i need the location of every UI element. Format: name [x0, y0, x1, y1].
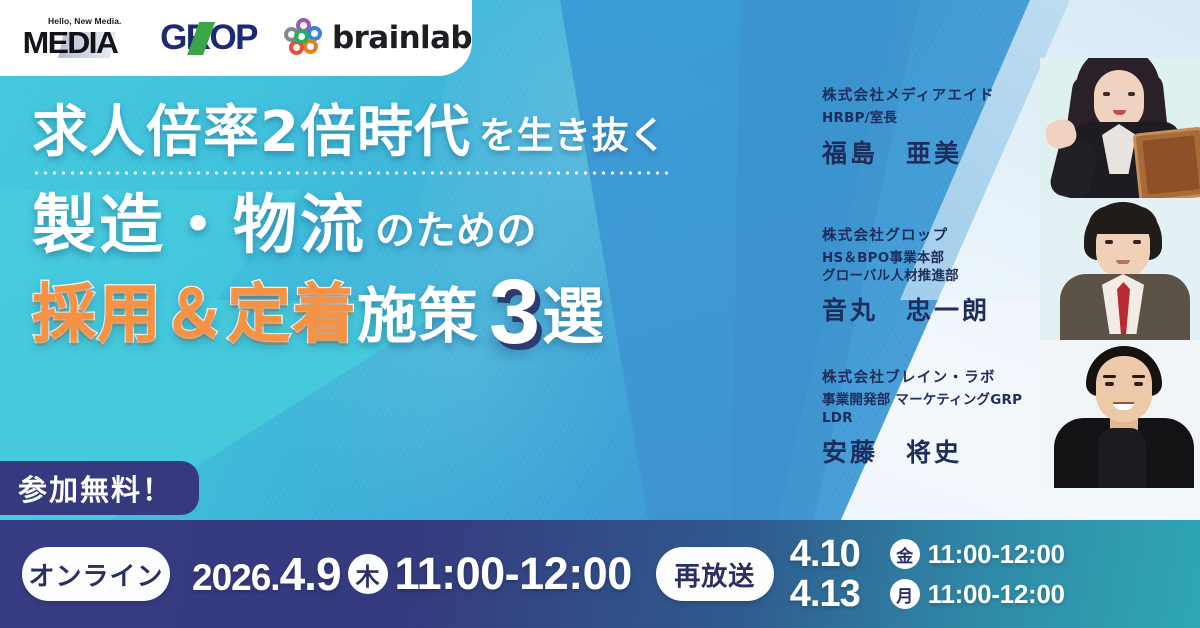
main-date-dow: 木 — [348, 554, 388, 594]
main-date-month-day: 4.9 — [280, 548, 341, 600]
online-badge: オンライン — [22, 547, 170, 601]
speaker-list: 株式会社メディアエイド HRBP/室長 福島 亜美 株式会社グロップ HS＆B — [800, 0, 1200, 520]
main-date-year: 2026. — [192, 557, 280, 598]
speaker-card-2: 株式会社グロップ HS＆BPO事業本部 グローバル人材推進部 音丸 忠一朗 — [800, 198, 1200, 348]
eyebrow-right — [1132, 375, 1145, 378]
headline: 求人倍率2倍時代 を生き抜く 製造・物流 のための 採用＆定着 施策 3 選 — [32, 104, 792, 350]
headline-line3-orange: 採用＆定着 — [32, 282, 357, 350]
logo-media: Hello, New Media. MEDIA — [24, 16, 134, 60]
main-event-date: 2026.4.9 木 11:00-12:00 — [192, 547, 632, 601]
speaker-3-department-line2: LDR — [822, 410, 1042, 427]
headline-line2-rest: のための — [375, 198, 537, 261]
logo-brainlab: brainlab — [283, 18, 472, 58]
eye-left — [1103, 92, 1110, 96]
headline-line2-emphasis: 製造・物流 — [32, 193, 367, 261]
eye-right — [1133, 240, 1141, 244]
headline-dotted-rule — [32, 171, 672, 175]
headline-line-2: 製造・物流 のための — [32, 193, 792, 261]
hair-fringe — [1088, 206, 1158, 234]
speaker-2-company: 株式会社グロップ — [822, 226, 1042, 246]
speaker-2-photo — [1040, 198, 1200, 346]
eyebrow-left — [1103, 375, 1116, 378]
media-logo-shade — [58, 32, 116, 58]
logo-bar: Hello, New Media. MEDIA GROP brainlab — [0, 0, 472, 76]
headline-line3-white: 施策 — [357, 286, 479, 350]
speaker-3-photo — [1040, 340, 1200, 488]
speaker-1-department: HRBP/室長 — [822, 110, 1042, 127]
rerun-label: 再放送 — [674, 556, 755, 593]
face-shape — [1096, 356, 1152, 422]
rerun-badge: 再放送 — [656, 547, 774, 601]
main-date-value: 2026.4.9 — [192, 547, 341, 601]
brainlab-flower-icon — [283, 18, 323, 58]
speaker-card-1: 株式会社メディアエイド HRBP/室長 福島 亜美 — [800, 58, 1200, 208]
speaker-3-text: 株式会社ブレイン・ラボ 事業開発部 マーケティングGRP LDR 安藤 将史 — [822, 368, 1042, 469]
eye-right — [1128, 92, 1135, 96]
headline-line1-rest: を生き抜く — [479, 105, 667, 163]
webinar-banner: Hello, New Media. MEDIA GROP brainlab 求人… — [0, 0, 1200, 628]
speaker-1-name: 福島 亜美 — [822, 134, 1042, 170]
free-participation-badge: 参加無料！ — [0, 461, 199, 515]
speaker-2-department-line1: HS＆BPO事業本部 — [822, 250, 1042, 267]
speaker-3-name: 安藤 将史 — [822, 433, 1042, 469]
online-label: オンライン — [28, 556, 163, 593]
rerun-row: 4.10 金 11:00-12:00 — [790, 535, 1065, 573]
headline-line-3: 採用＆定着 施策 3 選 — [32, 275, 792, 350]
mouth — [1116, 260, 1130, 264]
speaker-1-photo — [1040, 58, 1200, 206]
tablet-prop — [1133, 127, 1200, 204]
rerun-time-2: 11:00-12:00 — [928, 581, 1065, 607]
logo-grop: GROP — [160, 18, 257, 58]
headline-line1-emphasis: 求人倍率2倍時代 — [32, 104, 471, 163]
headline-line-1: 求人倍率2倍時代 を生き抜く — [32, 104, 792, 163]
free-participation-label: 参加無料！ — [18, 467, 173, 509]
speaker-2-name: 音丸 忠一朗 — [822, 291, 1042, 327]
eye-left — [1105, 382, 1114, 386]
brainlab-wordmark: brainlab — [332, 20, 472, 56]
speaker-3-company: 株式会社ブレイン・ラボ — [822, 368, 1042, 388]
speaker-2-department-line2: グローバル人材推進部 — [822, 268, 1042, 285]
rerun-date-2: 4.13 — [790, 575, 882, 613]
headline-number: 3 — [489, 275, 540, 350]
rerun-row: 4.13 月 11:00-12:00 — [790, 575, 1065, 613]
black-shirt — [1098, 428, 1146, 488]
rerun-dow-2: 月 — [890, 579, 920, 609]
speaker-1-company: 株式会社メディアエイド — [822, 86, 1042, 106]
rerun-date-1: 4.10 — [790, 535, 882, 573]
face-shape — [1094, 70, 1144, 130]
eye-right — [1134, 382, 1143, 386]
rerun-time-1: 11:00-12:00 — [928, 541, 1065, 567]
headline-line3-suffix: 選 — [542, 284, 605, 350]
speaker-1-text: 株式会社メディアエイド HRBP/室長 福島 亜美 — [822, 86, 1042, 170]
rerun-dow-1: 金 — [890, 539, 920, 569]
speaker-3-department-line1: 事業開発部 マーケティングGRP — [822, 392, 1042, 409]
main-date-time: 11:00-12:00 — [395, 548, 632, 600]
speaker-2-text: 株式会社グロップ HS＆BPO事業本部 グローバル人材推進部 音丸 忠一朗 — [822, 226, 1042, 327]
rerun-dates: 4.10 金 11:00-12:00 4.13 月 11:00-12:00 — [790, 535, 1065, 613]
speaker-card-3: 株式会社ブレイン・ラボ 事業開発部 マーケティングGRP LDR 安藤 将史 — [800, 340, 1200, 490]
footer-bar: オンライン 2026.4.9 木 11:00-12:00 再放送 4.10 金 … — [0, 520, 1200, 628]
eye-left — [1105, 240, 1113, 244]
